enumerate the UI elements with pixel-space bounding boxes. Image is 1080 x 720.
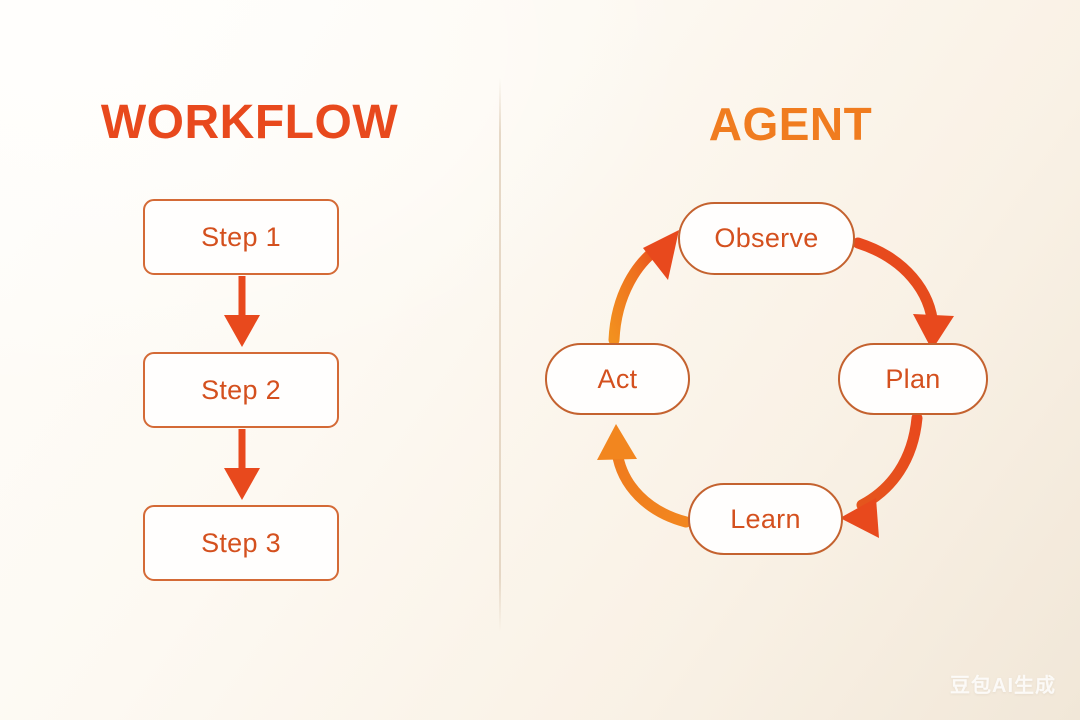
- workflow-step-3-label: Step 3: [201, 528, 281, 559]
- workflow-step-2-label: Step 2: [201, 375, 281, 406]
- agent-arc-plan-to-learn: [840, 418, 917, 538]
- workflow-step-2[interactable]: Step 2: [143, 352, 339, 428]
- workflow-step-1-label: Step 1: [201, 222, 281, 253]
- workflow-step-1[interactable]: Step 1: [143, 199, 339, 275]
- agent-node-plan[interactable]: Plan: [838, 343, 988, 415]
- agent-arc-learn-to-act: [597, 424, 686, 522]
- workflow-step-3[interactable]: Step 3: [143, 505, 339, 581]
- diagram-canvas: WORKFLOW Step 1 Step 2 Step 3 AGENT: [0, 0, 1080, 720]
- agent-node-observe-label: Observe: [714, 223, 818, 254]
- workflow-arrow-1-to-2: [224, 276, 260, 347]
- panel-divider: [499, 78, 501, 632]
- agent-node-act[interactable]: Act: [545, 343, 690, 415]
- workflow-arrow-2-to-3: [224, 429, 260, 500]
- agent-node-learn[interactable]: Learn: [688, 483, 843, 555]
- agent-node-observe[interactable]: Observe: [678, 202, 855, 275]
- agent-node-learn-label: Learn: [730, 504, 801, 535]
- agent-panel-title: AGENT: [501, 101, 1080, 147]
- agent-arc-act-to-observe: [614, 230, 679, 340]
- agent-arc-observe-to-plan: [858, 243, 954, 350]
- workflow-panel-title: WORKFLOW: [0, 99, 499, 147]
- agent-node-act-label: Act: [598, 364, 638, 395]
- watermark: 豆包AI生成: [950, 669, 1056, 698]
- agent-node-plan-label: Plan: [885, 364, 940, 395]
